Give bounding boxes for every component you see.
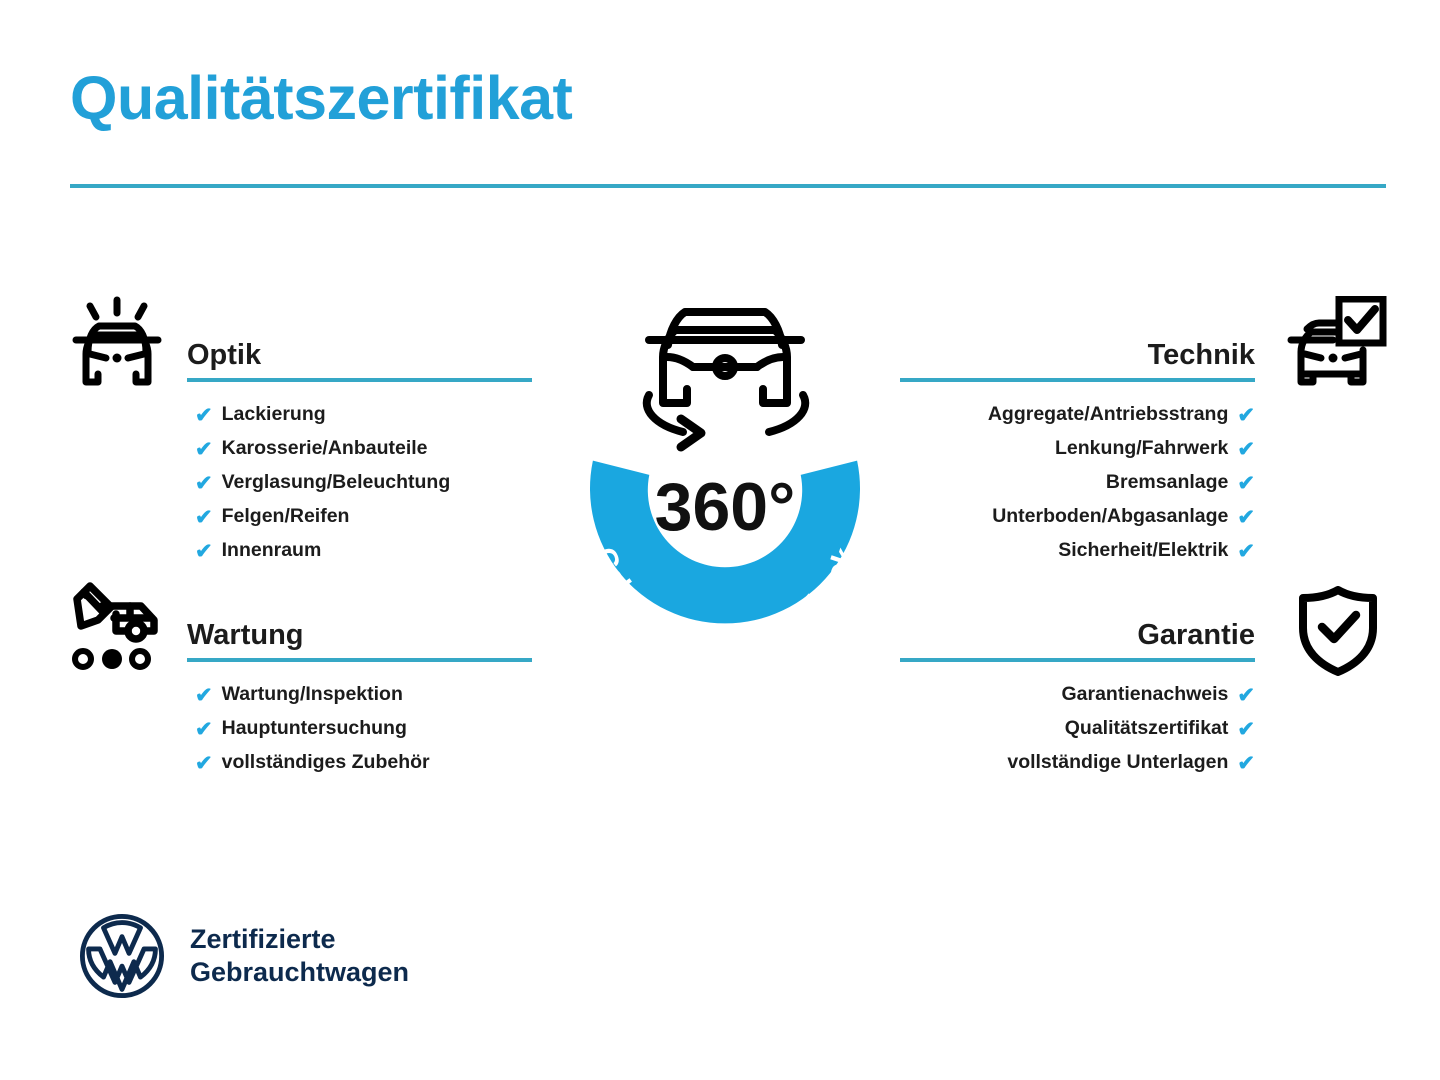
technik-title: Technik [1148,341,1255,370]
optik-title: Optik [187,341,261,370]
footer-brand-line1: Zertifizierte [190,923,409,956]
list-item: Unterboden/Abgasanlage✔ [900,500,1255,534]
check-icon: ✔ [1237,405,1255,426]
list-item-label: Lenkung/Fahrwerk [1055,439,1228,459]
volkswagen-logo-icon [78,912,166,1000]
list-item-label: Innenraum [222,541,322,561]
quality-certificate-page: Qualitätszertifikat Optik [0,0,1440,1080]
section-optik: Optik ✔Lackierung ✔Karosserie/Anbauteile… [187,330,532,568]
badge-360-gebrauchtwagen-check: Gebrauchtwagen-Check [530,280,920,700]
list-item: Garantienachweis✔ [900,678,1255,712]
list-item-label: Garantienachweis [1061,685,1228,705]
list-item: ✔Lackierung [187,398,532,432]
section-technik: Technik Aggregate/Antriebsstrang✔ Lenkun… [900,330,1255,568]
check-icon: ✔ [1237,753,1255,774]
check-icon: ✔ [195,541,213,562]
optik-check-list: ✔Lackierung ✔Karosserie/Anbauteile ✔Verg… [187,398,532,568]
list-item: ✔Felgen/Reifen [187,500,532,534]
list-item-label: vollständiges Zubehör [222,753,430,773]
car-front-shine-icon [66,296,170,388]
list-item-label: Sicherheit/Elektrik [1058,541,1228,561]
list-item: ✔Innenraum [187,534,532,568]
check-icon: ✔ [1237,473,1255,494]
list-item-label: Bremsanlage [1106,473,1228,493]
list-item: vollständige Unterlagen✔ [900,746,1255,780]
car-front-checkbox-icon [1283,296,1387,388]
optik-divider [187,378,532,382]
optik-header: Optik [187,330,532,382]
list-item: ✔Hauptuntersuchung [187,712,532,746]
wartung-icon-wrap [66,576,170,672]
list-item-label: Aggregate/Antriebsstrang [988,405,1229,425]
check-icon: ✔ [1237,685,1255,706]
garantie-check-list: Garantienachweis✔ Qualitätszertifikat✔ v… [900,678,1255,780]
technik-check-list: Aggregate/Antriebsstrang✔ Lenkung/Fahrwe… [900,398,1255,568]
header-divider [70,184,1386,188]
technik-header: Technik [900,330,1255,382]
list-item-label: vollständige Unterlagen [1007,753,1228,773]
check-icon: ✔ [195,439,213,460]
wartung-title: Wartung [187,621,304,650]
garantie-divider [900,658,1255,662]
check-icon: ✔ [195,405,213,426]
list-item-label: Qualitätszertifikat [1065,719,1229,739]
wartung-divider [187,658,532,662]
list-item-label: Lackierung [222,405,326,425]
check-icon: ✔ [195,685,213,706]
list-item-label: Karosserie/Anbauteile [222,439,428,459]
list-item-label: Felgen/Reifen [222,507,350,527]
list-item: Sicherheit/Elektrik✔ [900,534,1255,568]
list-item: Aggregate/Antriebsstrang✔ [900,398,1255,432]
wartung-check-list: ✔Wartung/Inspektion ✔Hauptuntersuchung ✔… [187,678,532,780]
check-icon: ✔ [195,507,213,528]
check-icon: ✔ [1237,507,1255,528]
garantie-icon-wrap [1295,586,1381,676]
list-item: ✔Wartung/Inspektion [187,678,532,712]
list-item: ✔Karosserie/Anbauteile [187,432,532,466]
technik-divider [900,378,1255,382]
list-item-label: Verglasung/Beleuchtung [222,473,451,493]
list-item: ✔vollständiges Zubehör [187,746,532,780]
check-icon: ✔ [1237,719,1255,740]
check-icon: ✔ [195,473,213,494]
list-item-label: Hauptuntersuchung [222,719,407,739]
list-item: Qualitätszertifikat✔ [900,712,1255,746]
car-service-pencil-icon [66,576,170,672]
list-item-label: Wartung/Inspektion [222,685,403,705]
footer-brand-line2: Gebrauchtwagen [190,956,409,989]
check-icon: ✔ [1237,439,1255,460]
optik-icon-wrap [66,296,170,388]
footer-brand-text: Zertifizierte Gebrauchtwagen [190,923,409,989]
check-icon: ✔ [1237,541,1255,562]
page-title: Qualitätszertifikat [70,68,572,129]
footer-brand-logo: Zertifizierte Gebrauchtwagen [78,912,409,1000]
shield-check-icon [1295,586,1381,676]
check-icon: ✔ [195,719,213,740]
list-item: ✔Verglasung/Beleuchtung [187,466,532,500]
section-garantie: Garantie Garantienachweis✔ Qualitätszert… [900,610,1255,780]
section-wartung: Wartung ✔Wartung/Inspektion ✔Hauptunters… [187,610,532,780]
wartung-header: Wartung [187,610,532,662]
list-item-label: Unterboden/Abgasanlage [992,507,1228,527]
garantie-header: Garantie [900,610,1255,662]
check-icon: ✔ [195,753,213,774]
badge-center-value: 360° [655,469,796,545]
garantie-title: Garantie [1137,621,1255,650]
list-item: Bremsanlage✔ [900,466,1255,500]
car-rotation-360-icon [647,312,805,447]
list-item: Lenkung/Fahrwerk✔ [900,432,1255,466]
technik-icon-wrap [1283,296,1387,388]
